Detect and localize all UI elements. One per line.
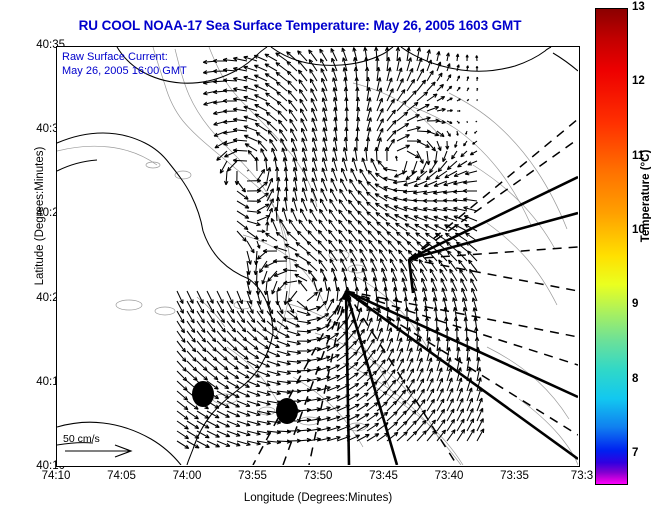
map-plot-area: 50 cm/s [56, 46, 580, 467]
x-tick-label: 73:55 [238, 470, 267, 482]
map-canvas [57, 47, 578, 465]
current-vector-field [177, 47, 484, 448]
annotation-line-2: May 26, 2005 16:00 GMT [62, 64, 187, 78]
figure-root: RU COOL NOAA-17 Sea Surface Temperature:… [0, 0, 651, 515]
x-tick-label: 73:3 [571, 470, 593, 482]
x-tick-label: 73:45 [369, 470, 398, 482]
x-tick-label: 74:10 [42, 470, 71, 482]
x-tick-label: 74:00 [173, 470, 202, 482]
x-tick-label: 73:40 [435, 470, 464, 482]
colorbar-label: Temperature (°C) [640, 116, 651, 276]
colorbar-tick-label: 9 [632, 298, 638, 310]
x-tick-label: 73:50 [304, 470, 333, 482]
colorbar-tick-label: 7 [632, 447, 638, 459]
raw-current-annotation: Raw Surface Current: May 26, 2005 16:00 … [62, 50, 187, 78]
x-tick-label: 73:35 [500, 470, 529, 482]
colorbar-tick-label: 13 [632, 1, 645, 13]
x-axis-label: Longitude (Degrees:Minutes) [56, 492, 580, 504]
scale-arrow-label: 50 cm/s [63, 433, 100, 445]
x-tick-label: 74:05 [107, 470, 136, 482]
annotation-line-1: Raw Surface Current: [62, 50, 187, 64]
colorbar [595, 8, 628, 485]
colorbar-gradient [596, 9, 627, 484]
colorbar-tick-label: 8 [632, 373, 638, 385]
figure-title: RU COOL NOAA-17 Sea Surface Temperature:… [0, 18, 600, 33]
colorbar-tick-label: 12 [632, 75, 645, 87]
scale-arrow-icon [65, 445, 131, 457]
